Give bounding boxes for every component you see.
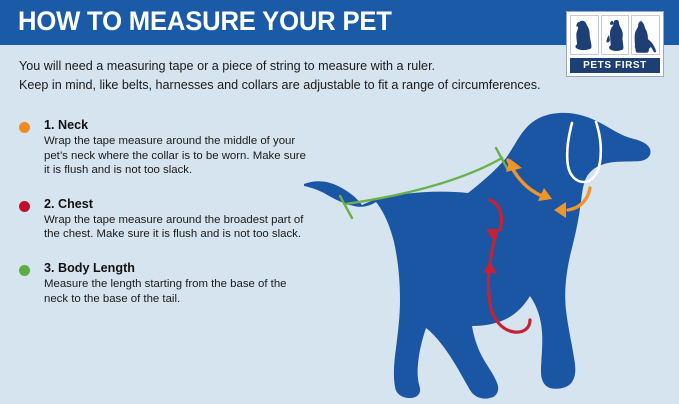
intro-line-1: You will need a measuring tape or a piec…: [19, 57, 579, 76]
page-title: HOW TO MEASURE YOUR PET: [18, 6, 392, 37]
dog-diagram: BODY LENGTH NECK CHEST: [300, 100, 679, 404]
step-item-body-length: 3. Body Length Measure the length starti…: [19, 261, 309, 306]
step-item-chest: 2. Chest Wrap the tape measure around th…: [19, 197, 309, 242]
logo-frames: [570, 15, 660, 55]
step-item-neck: 1. Neck Wrap the tape measure around the…: [19, 118, 309, 178]
bullet-chest-icon: [19, 201, 30, 212]
how-to-measure-poster: HOW TO MEASURE YOUR PET: [0, 0, 679, 404]
step-title-chest: 2. Chest: [44, 197, 309, 211]
dog-begging-icon: [601, 15, 630, 55]
bullet-neck-icon: [19, 122, 30, 133]
dog-silhouette-icon: [304, 113, 651, 399]
brand-logo: PETS FIRST: [566, 11, 664, 77]
step-title-body-length: 3. Body Length: [44, 261, 309, 275]
dog-standing-icon: [631, 15, 660, 55]
step-description-body-length: Measure the length starting from the bas…: [44, 277, 309, 306]
bullet-body-length-icon: [19, 265, 30, 276]
step-title-neck: 1. Neck: [44, 118, 309, 132]
step-description-neck: Wrap the tape measure around the middle …: [44, 134, 309, 178]
intro-text: You will need a measuring tape or a piec…: [19, 57, 579, 95]
logo-wordmark: PETS FIRST: [570, 58, 660, 73]
measurement-steps-list: 1. Neck Wrap the tape measure around the…: [19, 118, 309, 325]
intro-line-2: Keep in mind, like belts, harnesses and …: [19, 76, 579, 95]
step-description-chest: Wrap the tape measure around the broades…: [44, 213, 309, 242]
dog-sitting-icon: [570, 15, 599, 55]
